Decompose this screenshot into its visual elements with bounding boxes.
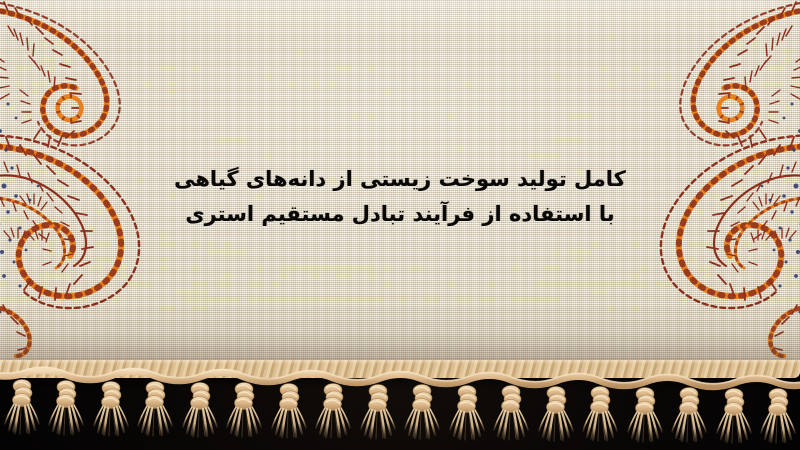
ornament-scroll-upper-r: [680, 0, 800, 147]
embroidered-fabric-panel: کامل تولید سوخت زیستی از دانه‌های گیاهی …: [0, 0, 800, 372]
ornament-spiral-curl: [58, 96, 82, 120]
ornament-navy-accents-r: [761, 94, 800, 313]
ornament-lower-tail-r: [770, 293, 800, 356]
ornament-boteh-body: [0, 132, 139, 308]
title-text-block: کامل تولید سوخت زیستی از دانه‌های گیاهی …: [160, 162, 640, 232]
ornament-navy-accents: [0, 94, 39, 313]
fabric-braided-edge: [0, 360, 800, 378]
title-card-scene: کامل تولید سوخت زیستی از دانه‌های گیاهی …: [0, 0, 800, 450]
ornament-lower-tail: [0, 293, 30, 356]
ornament-scroll-upper: [0, 0, 120, 147]
title-line-2: با استفاده از فرآیند تبادل مستقیم استری: [160, 197, 640, 232]
ornament-spiral-curl-r: [719, 96, 743, 120]
ornament-boteh-body-r: [661, 132, 800, 308]
ornament-inner-veins-r: [714, 162, 800, 272]
ornament-feather-fans-upper-r: [745, 26, 800, 123]
title-line-1: کامل تولید سوخت زیستی از دانه‌های گیاهی: [160, 162, 640, 197]
ornament-inner-veins: [0, 162, 86, 272]
ornament-feather-fans-upper: [0, 26, 55, 123]
